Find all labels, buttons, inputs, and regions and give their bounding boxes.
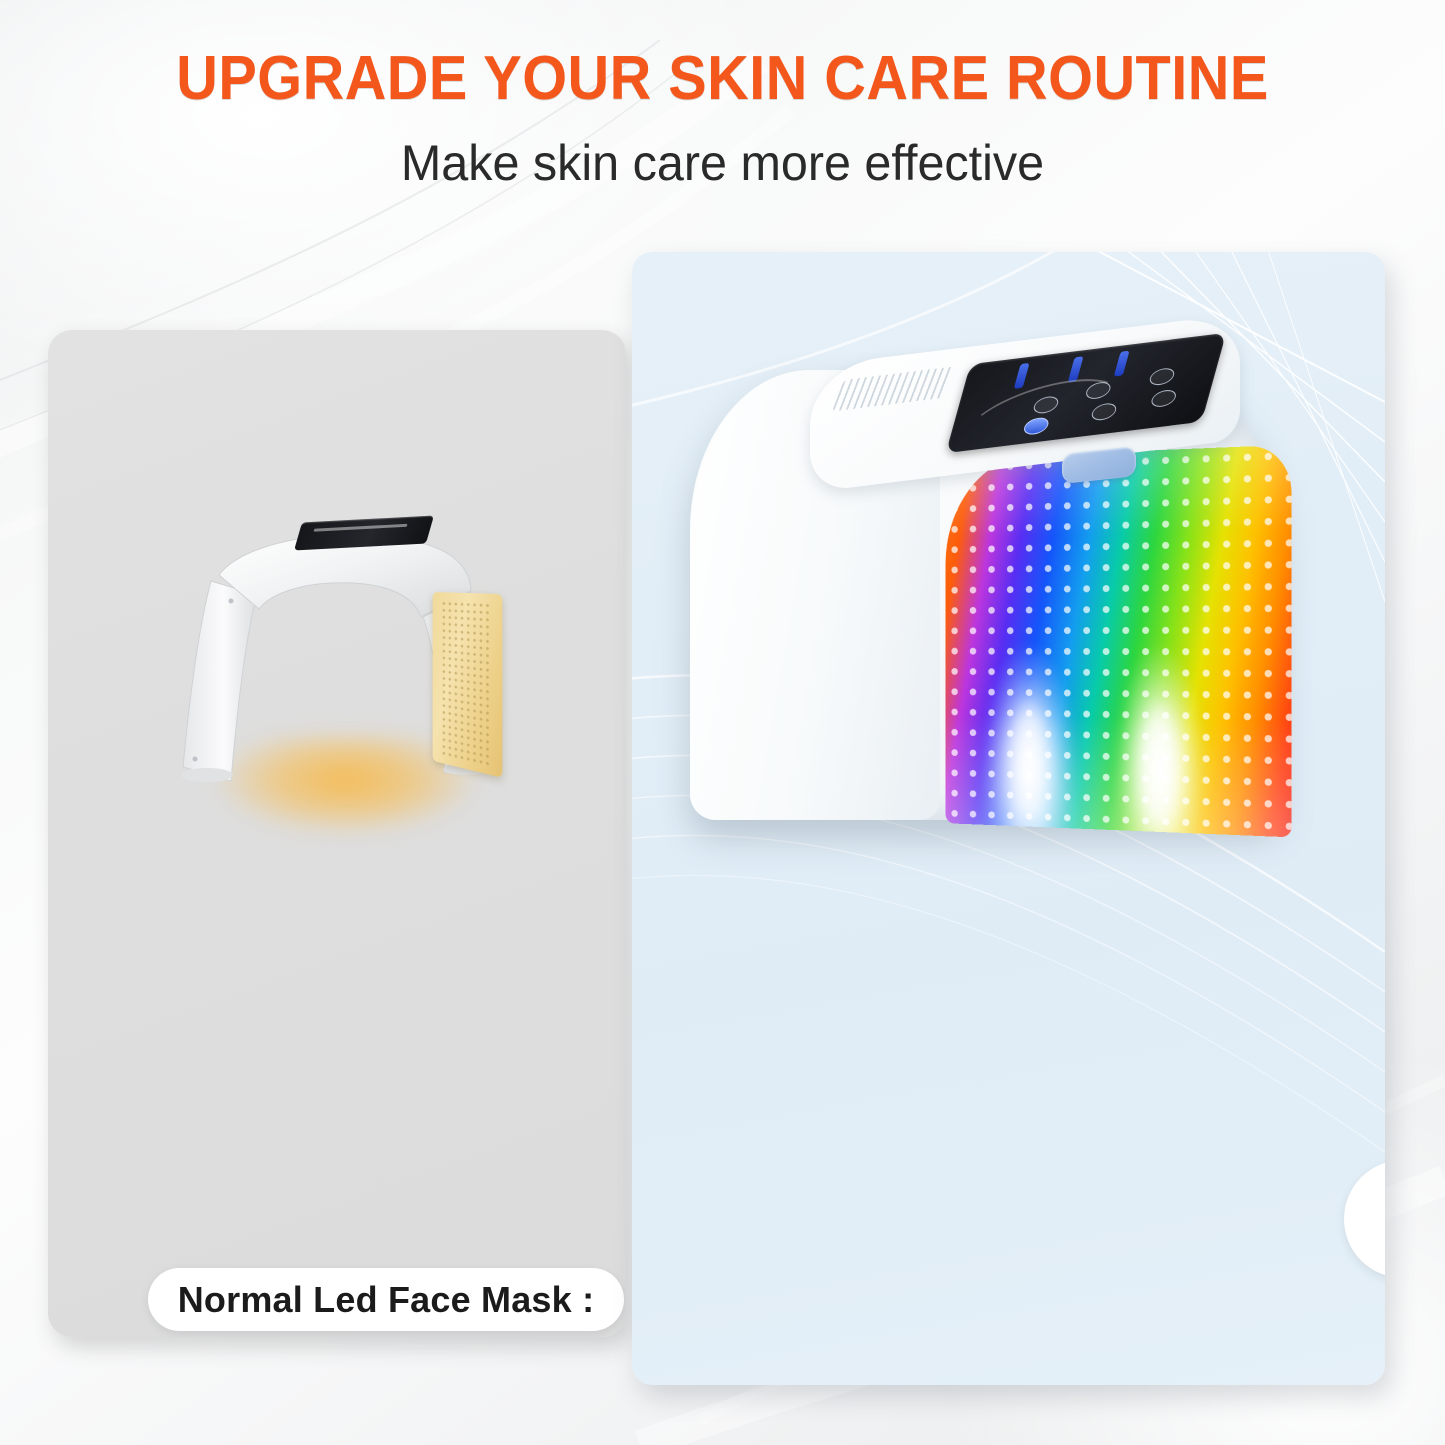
left-product-label: Normal Led Face Mask : xyxy=(178,1279,595,1321)
led-light-array xyxy=(945,445,1291,838)
page-subtitle: Make skin care more effective xyxy=(22,134,1424,192)
spray-button[interactable] xyxy=(1148,367,1177,387)
header: UPGRADE YOUR SKIN CARE ROUTINE Make skin… xyxy=(0,46,1445,192)
left-comparison-card: Normal Led Face Mask : Basic skin care O… xyxy=(48,330,626,1337)
right-comparison-card: Our Water Replenishment Spectrometer: 7 … xyxy=(632,252,1385,1385)
right-product-label-pill: Our Water Replenishment Spectrometer: xyxy=(1344,1160,1385,1278)
led-sheen xyxy=(945,445,1291,838)
water-replenishment-spectrometer-device xyxy=(690,322,1330,882)
yellow-led-panel xyxy=(433,592,503,778)
indicator-strip xyxy=(1014,363,1030,389)
spectrometer-product-image xyxy=(632,262,1385,922)
normal-led-face-mask-image xyxy=(48,385,626,945)
intensity-button[interactable] xyxy=(1149,389,1178,409)
normal-led-face-mask-device xyxy=(153,505,523,835)
left-product-label-pill: Normal Led Face Mask : xyxy=(148,1268,624,1331)
page-title: UPGRADE YOUR SKIN CARE ROUTINE xyxy=(51,46,1395,112)
